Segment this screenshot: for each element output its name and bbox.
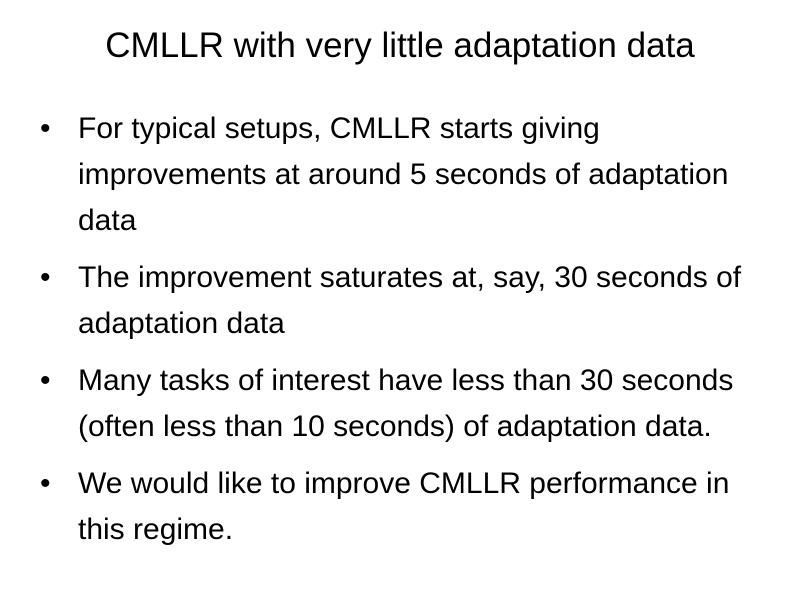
bullet-text: We would like to improve CMLLR performan… bbox=[78, 461, 784, 553]
bullet-point-icon: • bbox=[40, 358, 60, 404]
list-item: • Many tasks of interest have less than … bbox=[34, 358, 784, 450]
bullet-point-icon: • bbox=[40, 461, 60, 507]
list-item: • The improvement saturates at, say, 30 … bbox=[34, 255, 784, 347]
bullet-point-icon: • bbox=[40, 255, 60, 301]
list-item: • We would like to improve CMLLR perform… bbox=[34, 461, 784, 553]
bullet-list: • For typical setups, CMLLR starts givin… bbox=[34, 106, 784, 553]
slide-canvas: CMLLR with very little adaptation data •… bbox=[0, 0, 800, 599]
bullet-text: Many tasks of interest have less than 30… bbox=[78, 358, 784, 450]
list-item: • For typical setups, CMLLR starts givin… bbox=[34, 106, 784, 244]
bullet-text: For typical setups, CMLLR starts giving … bbox=[78, 106, 784, 244]
page-title: CMLLR with very little adaptation data bbox=[0, 24, 800, 68]
bullet-point-icon: • bbox=[40, 106, 60, 152]
bullet-text: The improvement saturates at, say, 30 se… bbox=[78, 255, 784, 347]
